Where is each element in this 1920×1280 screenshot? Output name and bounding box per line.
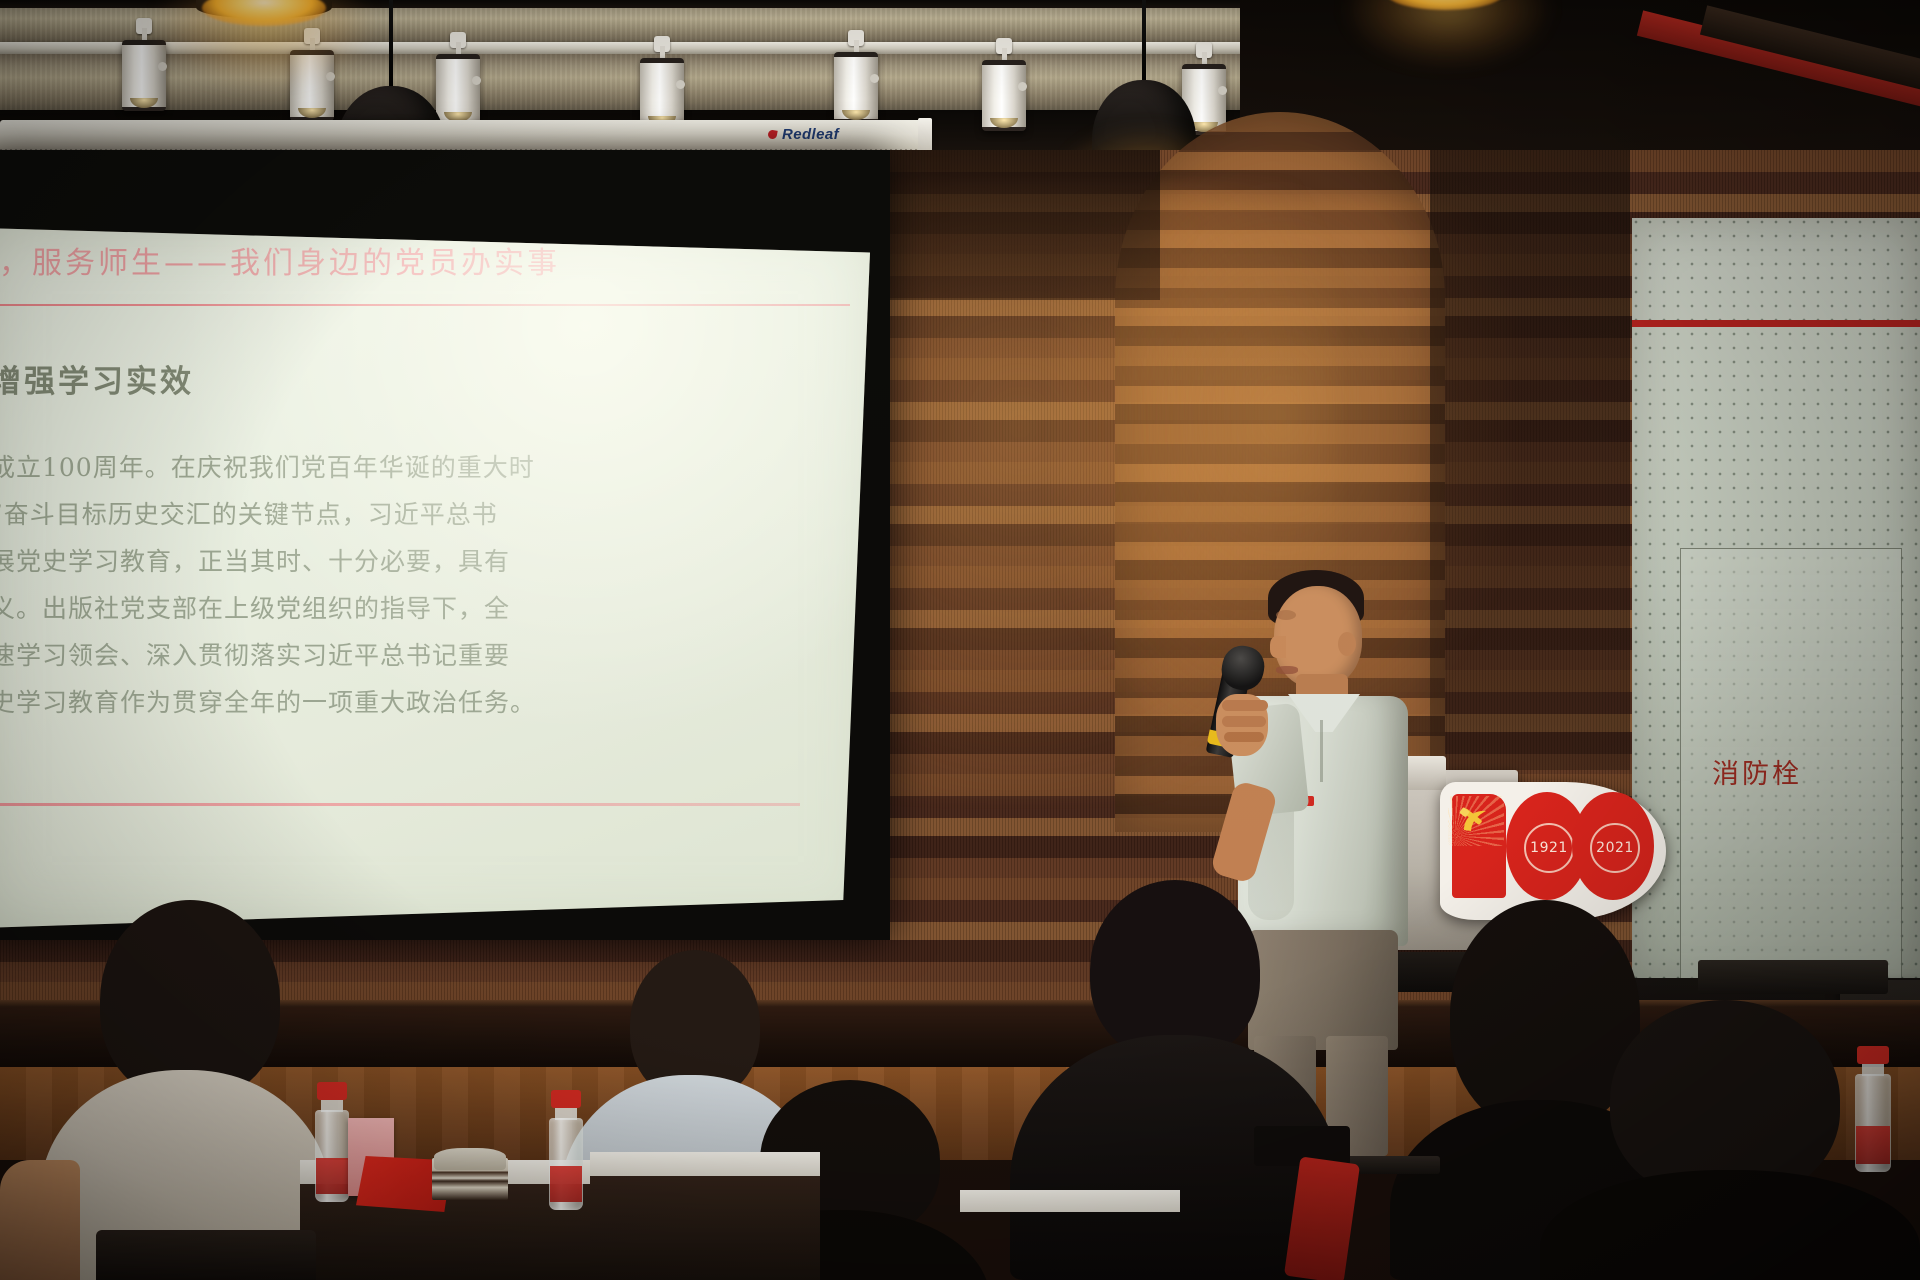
- bottle-label: [550, 1166, 582, 1202]
- slide-title-text: 谋，服务师生——我们身边的党员办实事: [0, 238, 560, 282]
- fire-hydrant-label: 消防栓: [1712, 752, 1802, 791]
- speaker-finger: [1222, 700, 1268, 711]
- spotlight-knob: [1018, 82, 1027, 91]
- slide-title-underline: [0, 304, 850, 306]
- spotlight-knob: [1218, 86, 1227, 95]
- pendant-cord: [389, 0, 393, 90]
- slide-body-line: 党成立100周年。在庆祝我们党百年华诞的重大时: [0, 444, 536, 491]
- presentation-slide: 谋，服务师生——我们身边的党员办实事 增强学习实效 党成立100周年。在庆祝我们…: [0, 228, 870, 928]
- folded-paper: [434, 1148, 506, 1170]
- bottle-cap: [317, 1082, 347, 1100]
- bottle-cap: [1857, 1046, 1889, 1064]
- redleaf-brand-text: Redleaf: [782, 126, 839, 143]
- emblem-digit-zero-right: 2021: [1572, 792, 1654, 900]
- pendant-cord: [1142, 0, 1146, 84]
- bottle-label: [316, 1158, 348, 1194]
- hammer-and-sickle-icon: [1458, 802, 1498, 842]
- redleaf-brand-logo: Redleaf: [768, 126, 839, 143]
- spotlight-knob: [870, 74, 879, 83]
- spotlight-knob: [326, 72, 335, 81]
- slide-body-line: 党史学习教育作为贯穿全年的一项重大政治任务。: [0, 679, 536, 726]
- speaker-finger: [1224, 732, 1264, 742]
- equipment-shelf: [1698, 960, 1888, 994]
- spotlight-knob: [472, 76, 481, 85]
- slide-body-line: 开展党史学习教育，正当其时、十分必要，具有: [0, 538, 536, 585]
- red-leaf-icon: [767, 129, 777, 139]
- desk-surface: [590, 1152, 820, 1176]
- water-bottle: [1854, 1046, 1892, 1172]
- desk-surface: [960, 1190, 1180, 1212]
- wall-dark-panel: [860, 150, 1160, 300]
- slide-body-line: 年”奋斗目标历史交汇的关键节点，习近平总书: [0, 491, 536, 538]
- water-bottle: [314, 1082, 350, 1202]
- speaker-brow: [1276, 610, 1296, 620]
- spotlight-knob: [158, 62, 167, 71]
- audience-head: [1090, 880, 1260, 1060]
- emblem-year-left: 1921: [1524, 823, 1574, 873]
- slide-body-line: 迅速学习领会、深入贯彻落实习近平总书记重要: [0, 632, 536, 679]
- chair-back: [96, 1230, 316, 1280]
- speaker-mouth: [1276, 666, 1298, 674]
- slide-bottom-rule: [0, 803, 800, 806]
- bottle-label: [1856, 1126, 1890, 1164]
- speaker-nose: [1270, 636, 1286, 658]
- speaker-shirt-placket: [1320, 720, 1323, 782]
- emblem-year-right: 2021: [1590, 823, 1640, 873]
- spotlight-knob: [676, 80, 685, 89]
- slide-body-line: 意义。出版社党支部在上级党组织的指导下，全: [0, 585, 536, 632]
- audience-hand: [0, 1160, 80, 1280]
- water-bottle: [548, 1090, 584, 1210]
- speaker-ear: [1338, 632, 1356, 656]
- slide-heading-text: 增强学习实效: [0, 356, 194, 401]
- conference-photo-scene: Redleaf 谋，服务师生——我们身边的党员办实事 增强学习实效 党成立100…: [0, 0, 1920, 1280]
- slide-body-text: 党成立100周年。在庆祝我们党百年华诞的重大时 年”奋斗目标历史交汇的关键节点，…: [0, 444, 536, 726]
- wall-dark-panel: [1430, 150, 1630, 770]
- speaker-finger: [1222, 716, 1266, 727]
- bottle-cap: [551, 1090, 581, 1108]
- audience-member: [1010, 880, 1340, 1280]
- audience-torso: [1540, 1170, 1920, 1280]
- desk-body: [590, 1176, 820, 1280]
- audience-member: [40, 900, 330, 1280]
